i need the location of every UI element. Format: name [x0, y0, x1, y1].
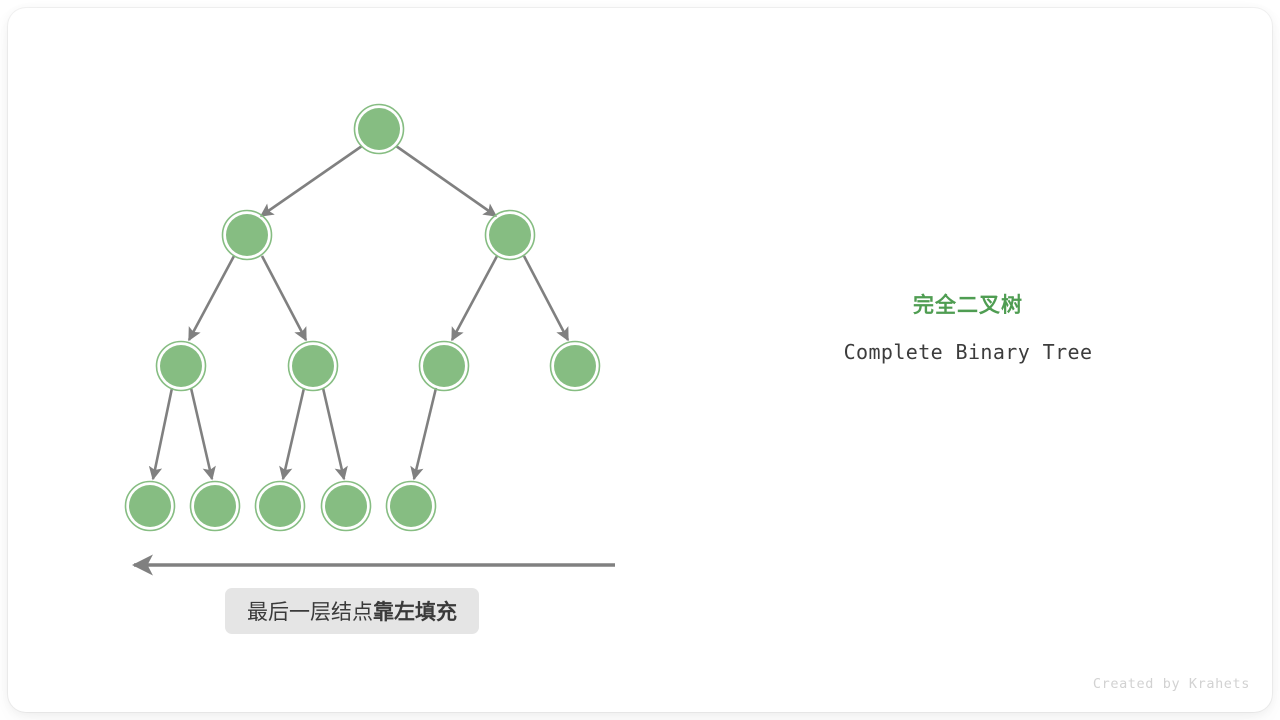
edge-n2-n4	[189, 256, 234, 340]
diagram-canvas: 完全二叉树 Complete Binary Tree 最后一层结点 靠左填充 C…	[0, 0, 1280, 720]
tree-node-n8	[126, 482, 175, 531]
tree-node-n11	[322, 482, 371, 531]
edge-n2-n5	[262, 256, 306, 340]
tree-node-n10	[256, 482, 305, 531]
edge-n4-n9	[191, 388, 212, 479]
tree-nodes	[126, 105, 600, 531]
tree-node-n5	[289, 342, 338, 391]
binary-tree-graphic	[0, 0, 1280, 720]
tree-node-n2	[223, 211, 272, 260]
tree-edges	[153, 146, 568, 479]
annotation-chip: 最后一层结点 靠左填充	[225, 588, 479, 634]
tree-node-n6	[420, 342, 469, 391]
tree-node-n3	[486, 211, 535, 260]
tree-node-n1	[355, 105, 404, 154]
edge-n3-n6	[452, 256, 497, 340]
annotation-chip-text-strong: 靠左填充	[373, 596, 457, 626]
tree-node-n12	[387, 482, 436, 531]
watermark: Created by Krahets	[1093, 676, 1250, 692]
annotation-chip-text-plain: 最后一层结点	[247, 596, 373, 626]
edge-n6-n12	[414, 388, 436, 479]
tree-node-n4	[157, 342, 206, 391]
edge-n1-n3	[396, 146, 496, 216]
edge-n5-n11	[323, 388, 344, 479]
edge-n3-n7	[524, 256, 568, 340]
edge-n4-n8	[153, 388, 172, 479]
tree-node-n7	[551, 342, 600, 391]
edge-n5-n10	[283, 388, 304, 479]
edge-n1-n2	[261, 146, 362, 216]
tree-node-n9	[191, 482, 240, 531]
